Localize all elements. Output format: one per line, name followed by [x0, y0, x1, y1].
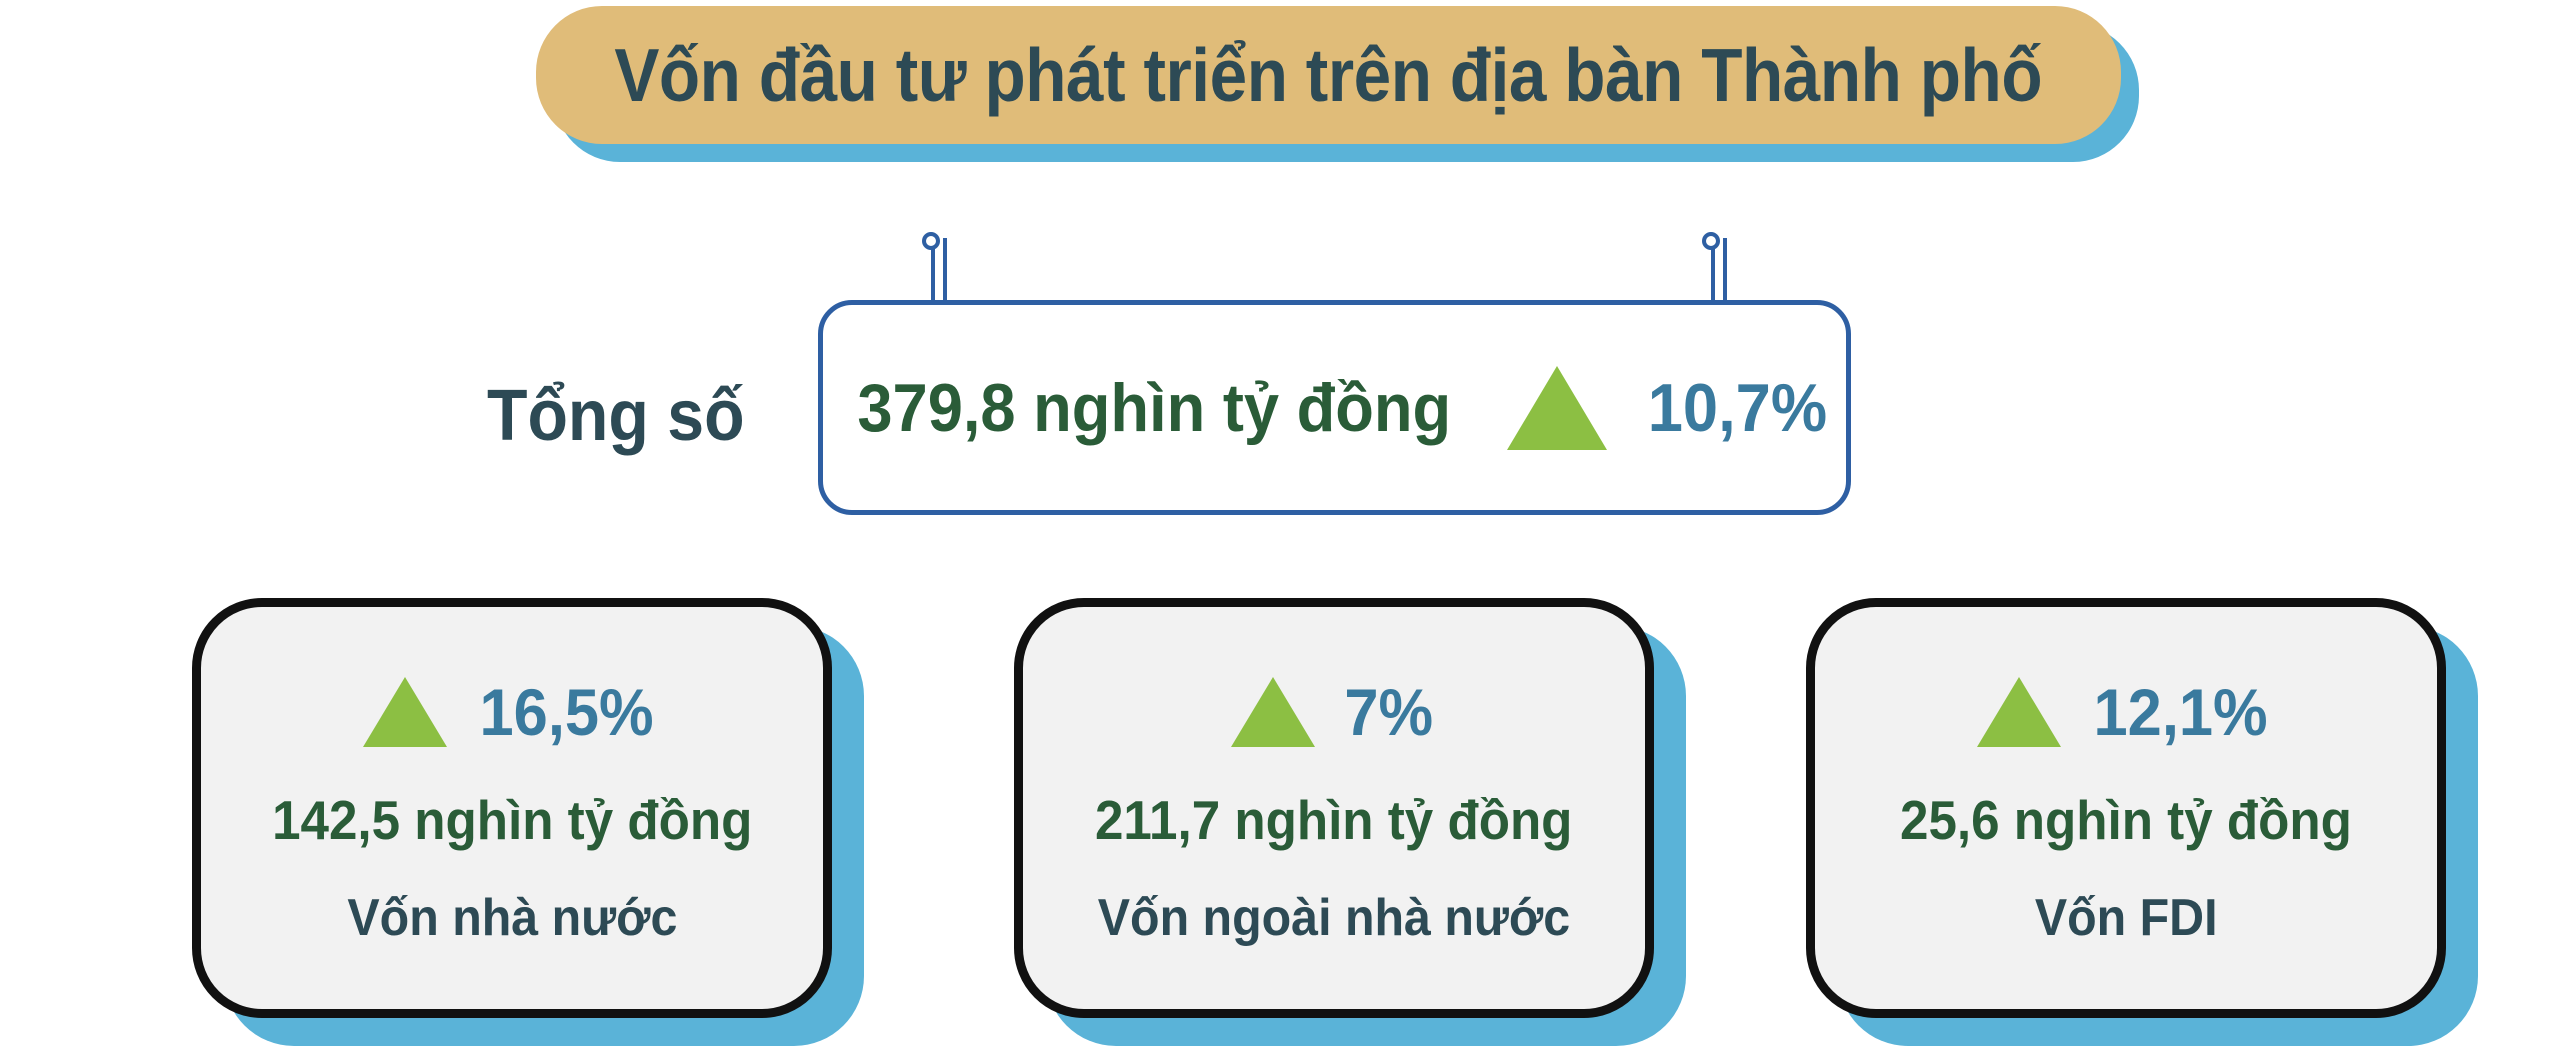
metric-card-name: Vốn FDI [2035, 892, 2218, 944]
metric-card-name: Vốn nhà nước [347, 892, 677, 944]
triangle-up-icon [363, 677, 447, 747]
metric-card-body: 7% 211,7 nghìn tỷ đồng Vốn ngoài nhà nướ… [1014, 598, 1654, 1018]
metric-card-amount: 25,6 nghìn tỷ đồng [1900, 793, 2352, 848]
metric-card-percent: 12,1% [2094, 679, 2268, 745]
metric-card-header: 16,5% [363, 677, 660, 747]
metric-card-header: 7% [1231, 677, 1436, 747]
metric-card-header: 12,1% [1977, 677, 2274, 747]
metric-card-name: Vốn ngoài nhà nước [1098, 892, 1570, 944]
total-label: Tổng số [487, 375, 745, 457]
title-banner: Vốn đầu tư phát triển trên địa bàn Thành… [536, 6, 2121, 144]
metric-card-amount: 211,7 nghìn tỷ đồng [1095, 793, 1572, 848]
metric-card: 12,1% 25,6 nghìn tỷ đồng Vốn FDI [1806, 598, 2446, 1018]
metric-card-body: 16,5% 142,5 nghìn tỷ đồng Vốn nhà nước [192, 598, 832, 1018]
total-percent: 10,7% [1648, 369, 1827, 447]
connector-cap-top-icon [922, 232, 940, 250]
triangle-up-icon [1977, 677, 2061, 747]
infographic-root: Vốn đầu tư phát triển trên địa bàn Thành… [0, 0, 2559, 1060]
connector-cap-top-icon [1702, 232, 1720, 250]
title-banner-body: Vốn đầu tư phát triển trên địa bàn Thành… [536, 6, 2121, 144]
page-title: Vốn đầu tư phát triển trên địa bàn Thành… [615, 32, 2043, 118]
metric-card: 7% 211,7 nghìn tỷ đồng Vốn ngoài nhà nướ… [1014, 598, 1654, 1018]
triangle-up-icon [1507, 366, 1607, 450]
total-box: 379,8 nghìn tỷ đồng 10,7% [818, 300, 1851, 515]
metric-card-percent: 7% [1345, 679, 1434, 745]
metric-card-body: 12,1% 25,6 nghìn tỷ đồng Vốn FDI [1806, 598, 2446, 1018]
triangle-up-icon [1231, 677, 1315, 747]
metric-card-amount: 142,5 nghìn tỷ đồng [272, 793, 752, 848]
total-value: 379,8 nghìn tỷ đồng [857, 369, 1451, 447]
metric-card-percent: 16,5% [480, 679, 654, 745]
metric-card: 16,5% 142,5 nghìn tỷ đồng Vốn nhà nước [192, 598, 832, 1018]
